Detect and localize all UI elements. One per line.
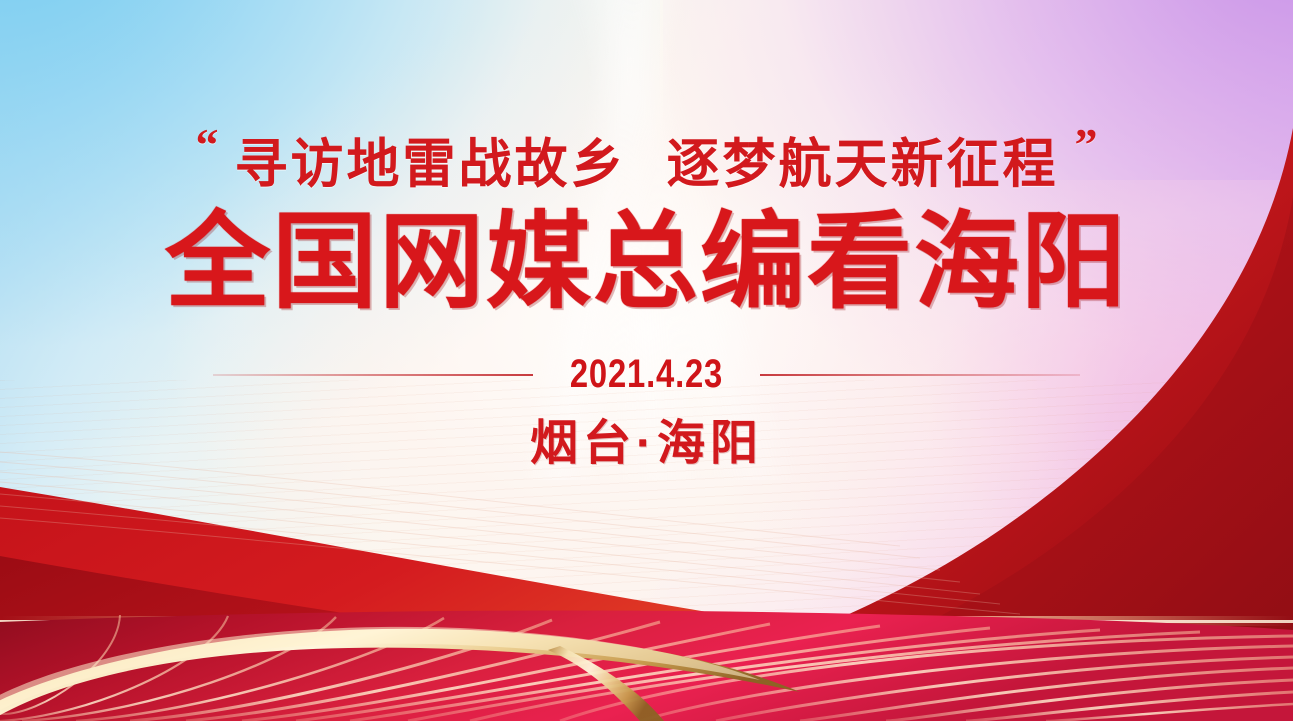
open-quote-mark: “ xyxy=(196,119,219,170)
poster-dateline: 2021.4.23 xyxy=(0,352,1293,397)
dateline-rule-right xyxy=(760,374,1080,376)
dateline-rule-left xyxy=(213,374,533,376)
subtitle-phrase-a: 寻访地雷战故乡 xyxy=(235,135,627,194)
poster-location: 烟台·海阳 xyxy=(0,403,1293,473)
poster-title: 全国网媒总编看海阳 xyxy=(0,207,1293,318)
subtitle-phrase-b: 逐梦航天新征程 xyxy=(667,135,1059,194)
close-quote-mark: ” xyxy=(1075,119,1098,170)
poster-date: 2021.4.23 xyxy=(570,352,723,397)
poster-canvas: “寻访地雷战故乡逐梦航天新征程” 全国网媒总编看海阳 2021.4.23 烟台·… xyxy=(0,0,1293,721)
poster-subtitle: “寻访地雷战故乡逐梦航天新征程” xyxy=(0,118,1293,198)
